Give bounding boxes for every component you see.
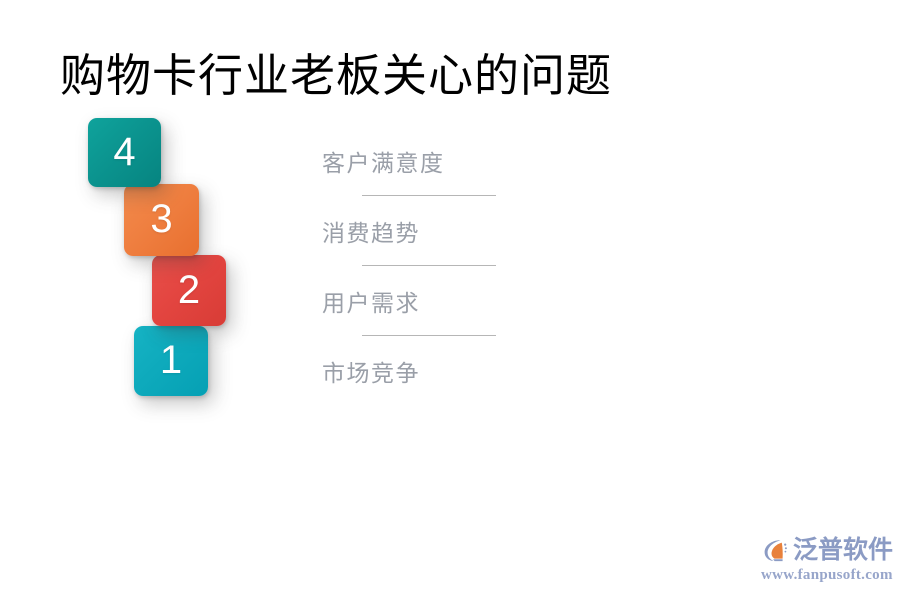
numbered-blocks-group: 4 3 2 1 [0, 0, 300, 420]
logo-website-url: www.fanpusoft.com [761, 567, 893, 584]
list-divider [362, 265, 496, 266]
block-number-label: 4 [113, 132, 135, 172]
list-item[interactable]: 用户需求 [322, 268, 552, 338]
brand-logo: 泛普软件 www.fanpusoft.com [760, 536, 886, 584]
logo-brand-name: 泛普软件 [793, 538, 893, 563]
list-divider [362, 335, 496, 336]
topic-label: 用户需求 [322, 292, 420, 315]
list-item[interactable]: 消费趋势 [322, 198, 552, 268]
block-number-label: 2 [178, 270, 200, 310]
slide-canvas: 购物卡行业老板关心的问题 4 3 2 1 客户满意度 消费趋势 用户需求 市场竞… [0, 0, 900, 600]
block-number-label: 3 [150, 199, 172, 239]
topic-list: 客户满意度 消费趋势 用户需求 市场竞争 [322, 128, 552, 408]
list-item[interactable]: 市场竞争 [322, 338, 552, 408]
logo-row: 泛普软件 [760, 536, 893, 565]
number-block-1[interactable]: 1 [134, 326, 208, 396]
number-block-4[interactable]: 4 [88, 118, 161, 187]
number-block-3[interactable]: 3 [124, 184, 199, 256]
topic-label: 市场竞争 [322, 362, 420, 385]
list-item[interactable]: 客户满意度 [322, 128, 552, 198]
fanpu-crescent-logo-icon [760, 536, 789, 565]
topic-label: 消费趋势 [322, 222, 420, 245]
number-block-2[interactable]: 2 [152, 255, 226, 326]
list-divider [362, 195, 496, 196]
block-number-label: 1 [160, 340, 182, 380]
topic-label: 客户满意度 [322, 152, 445, 175]
